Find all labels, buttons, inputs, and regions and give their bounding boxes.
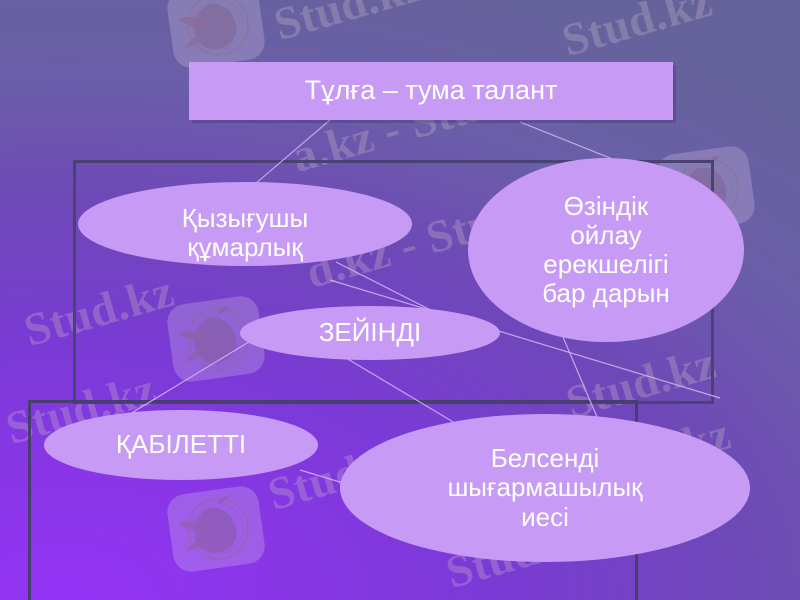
slide-title-box: Тұлға – тума талант (189, 62, 673, 120)
node-kabiletti: ҚАБІЛЕТТІ (44, 410, 318, 480)
node-zeiindi: ЗЕЙІНДІ (240, 306, 500, 360)
slide-title-text: Тұлға – тума талант (305, 76, 558, 106)
node-ozindik: Өзіндік ойлау ерекшелігі бар дарын (468, 158, 744, 342)
node-kyzygushy: Қызығушы құмарлық (78, 182, 412, 266)
node-ozindik-label: Өзіндік ойлау ерекшелігі бар дарын (468, 192, 744, 308)
node-zeiindi-label: ЗЕЙІНДІ (240, 318, 500, 347)
node-belsendi: Белсенді шығармашылық иесі (340, 414, 750, 562)
presentation-slide: Stud.kzStud.kza.kz - Stud.kzStud.kzd.kz … (0, 0, 800, 600)
hummingbird-logo-icon (165, 0, 267, 70)
node-kabiletti-label: ҚАБІЛЕТТІ (44, 430, 318, 459)
node-belsendi-label: Белсенді шығармашылық иесі (340, 444, 750, 531)
node-kyzygushy-label: Қызығушы құмарлық (78, 204, 412, 262)
watermark-text: Stud.kz (268, 0, 430, 51)
watermark-text: Stud.kz (556, 0, 718, 67)
